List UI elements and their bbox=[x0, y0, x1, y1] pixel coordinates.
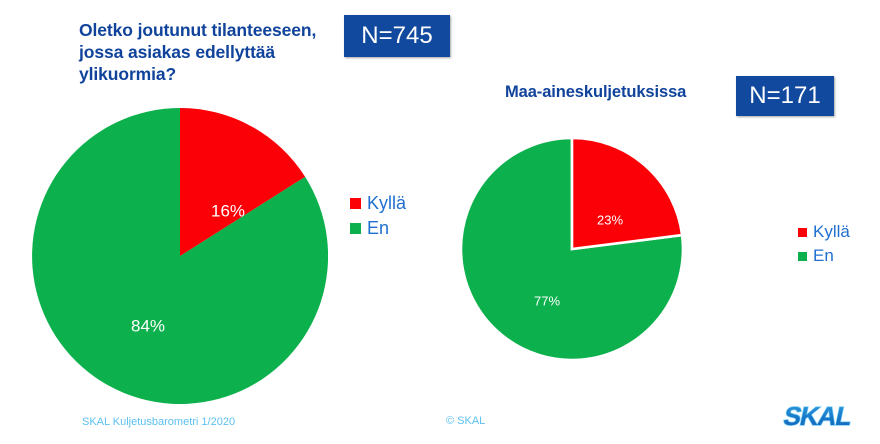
chart-1-legend-item-en[interactable]: En bbox=[350, 218, 406, 239]
chart-1-sample-badge: N=745 bbox=[344, 15, 450, 57]
chart-2-slice-yes[interactable] bbox=[572, 138, 682, 249]
chart-2-legend: Kyllä En bbox=[798, 222, 850, 266]
chart-1-legend-label-en: En bbox=[367, 218, 389, 239]
chart-1-legend-label-kylla: Kyllä bbox=[367, 193, 406, 214]
chart-2-pie-svg: 23% 77% bbox=[461, 138, 683, 360]
chart-2-label-no: 77% bbox=[534, 293, 560, 308]
chart-2-label-yes: 23% bbox=[597, 212, 623, 227]
chart-2-sample-badge: N=171 bbox=[736, 76, 834, 116]
skal-logo-text: SKAL bbox=[781, 401, 855, 431]
legend-swatch-green-icon bbox=[798, 252, 807, 261]
legend-swatch-red-icon bbox=[798, 228, 807, 237]
chart-1-legend: Kyllä En bbox=[350, 193, 406, 239]
chart-2-legend-label-en: En bbox=[813, 246, 834, 266]
chart-2-legend-item-kylla[interactable]: Kyllä bbox=[798, 222, 850, 242]
legend-swatch-green-icon bbox=[350, 223, 361, 234]
chart-1-label-no: 84% bbox=[131, 316, 165, 335]
chart-1-label-yes: 16% bbox=[211, 201, 245, 220]
chart-1-pie-svg: 16% 84% bbox=[32, 108, 328, 404]
legend-swatch-red-icon bbox=[350, 198, 361, 209]
chart-2-legend-label-kylla: Kyllä bbox=[813, 222, 850, 242]
slide-canvas: Oletko joutunut tilanteeseen, jossa asia… bbox=[0, 0, 880, 444]
chart-1-pie: 16% 84% bbox=[32, 108, 328, 404]
chart-1-legend-item-kylla[interactable]: Kyllä bbox=[350, 193, 406, 214]
chart-2-legend-item-en[interactable]: En bbox=[798, 246, 850, 266]
chart-1-title: Oletko joutunut tilanteeseen, jossa asia… bbox=[79, 20, 341, 86]
footer-source-text: SKAL Kuljetusbarometri 1/2020 bbox=[82, 416, 235, 428]
chart-2-title: Maa-aineskuljetuksissa bbox=[505, 82, 745, 103]
footer-copyright-text: © SKAL bbox=[446, 415, 485, 427]
skal-logo-svg: SKAL bbox=[778, 398, 874, 434]
chart-2-pie: 23% 77% bbox=[461, 138, 683, 360]
skal-logo-icon: SKAL bbox=[778, 398, 874, 434]
